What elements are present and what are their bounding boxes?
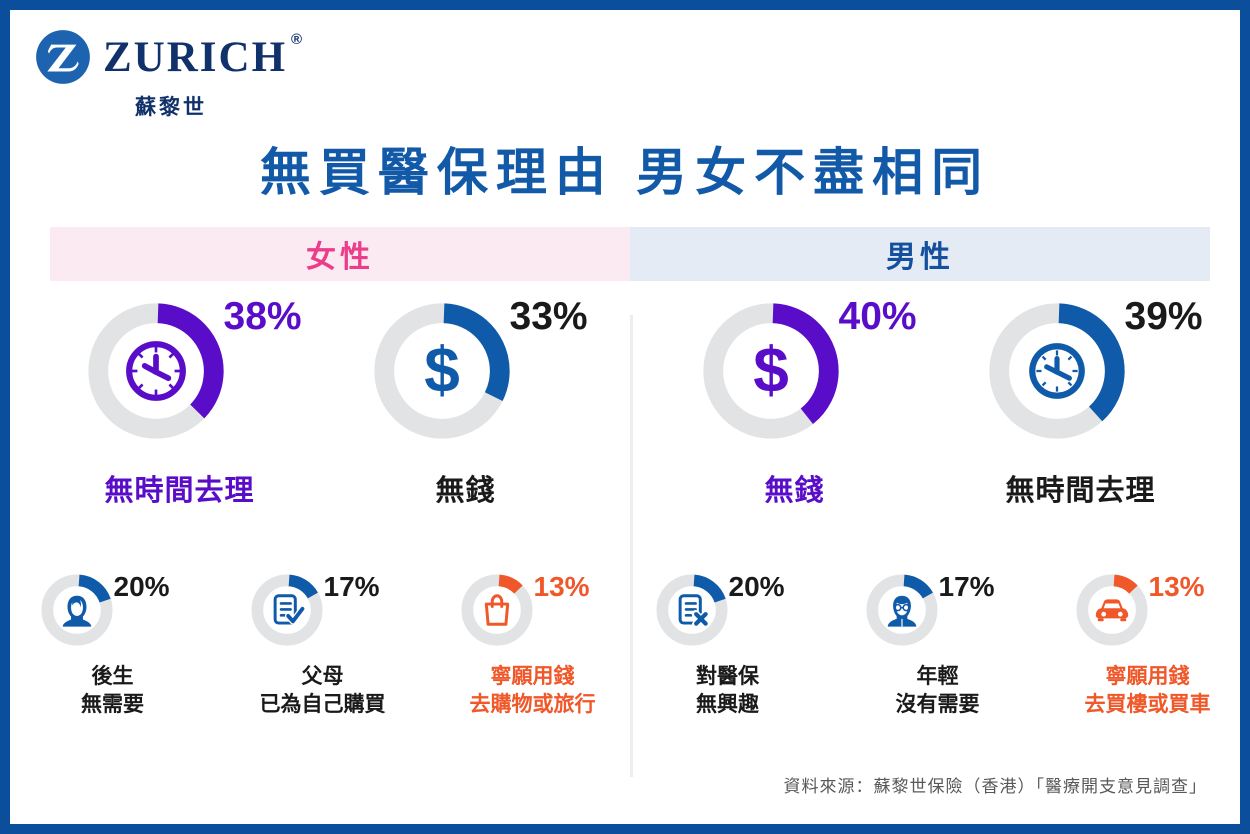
donut-wrap: $ 40%: [695, 295, 895, 445]
stat-label: 父母 已為自己購買: [260, 663, 386, 720]
header-male-label: 男性: [886, 232, 954, 276]
donut-chart: [80, 295, 232, 447]
stat-item-male-no-interest: 20% 對醫保 無興趣: [634, 571, 822, 720]
clock-icon: [1024, 338, 1090, 404]
donut-chart: [981, 295, 1133, 447]
label-line-2: 去買樓或買車: [1085, 691, 1211, 719]
page-title: 無買醫保理由 男女不盡相同: [15, 131, 1235, 205]
label-line-2: 去購物或旅行: [470, 691, 596, 719]
column-female: 38% 無時間去理 $: [15, 295, 630, 720]
donut-chart: [653, 571, 731, 649]
columns-area: 38% 無時間去理 $: [15, 295, 1245, 720]
zurich-z-logo-icon: [35, 29, 91, 85]
male-small-row: 20% 對醫保 無興趣: [630, 571, 1245, 720]
donut-wrap: 13%: [1073, 571, 1223, 649]
donut-wrap: 17%: [863, 571, 1013, 649]
donut-chart: [863, 571, 941, 649]
percent-label: 20%: [114, 573, 170, 601]
brand-chinese-name: 蘇黎世: [135, 91, 207, 121]
stat-item-male-young-no-need: 17% 年輕 沒有需要: [844, 571, 1032, 720]
donut-chart: $: [695, 295, 847, 447]
donut-chart: [248, 571, 326, 649]
registered-mark-icon: ®: [291, 32, 304, 47]
svg-text:$: $: [424, 338, 460, 404]
female-small-row: 20% 後生 無需要: [15, 571, 630, 720]
donut-chart: [458, 571, 536, 649]
brand-wordmark: ZURICH ®: [103, 36, 287, 79]
car-icon: [1093, 591, 1131, 629]
header-male: 男性: [630, 227, 1210, 281]
source-footnote: 資料來源：蘇黎世保險（香港）「醫療開支意見調查」: [784, 772, 1208, 797]
label-line-1: 年輕: [896, 663, 980, 691]
male-big-row: $ 40% 無錢: [630, 295, 1245, 509]
stat-label: 對醫保 無興趣: [696, 663, 759, 720]
stat-label: 後生 無需要: [81, 663, 144, 720]
stat-item-male-no-time: 39% 無時間去理: [956, 295, 1206, 509]
clock-icon: [123, 338, 189, 404]
donut-wrap: 20%: [653, 571, 803, 649]
brand-row: ZURICH ®: [35, 29, 287, 85]
percent-label: 20%: [729, 573, 785, 601]
label-line-1: 寧願用錢: [470, 663, 596, 691]
donut-wrap: 13%: [458, 571, 608, 649]
stat-label: 寧願用錢 去購物或旅行: [470, 663, 596, 720]
stat-item-male-prefer-property-car: 13% 寧願用錢 去買樓或買車: [1054, 571, 1242, 720]
label-line-1: 父母: [260, 663, 386, 691]
label-line-2: 已為自己購買: [260, 691, 386, 719]
percent-label: 38%: [224, 297, 302, 336]
percent-label: 40%: [839, 297, 917, 336]
donut-wrap: 38%: [80, 295, 280, 445]
label-line-2: 無需要: [81, 691, 144, 719]
svg-text:$: $: [753, 338, 789, 404]
donut-wrap: $ 33%: [366, 295, 566, 445]
label-line-1: 後生: [81, 663, 144, 691]
stat-item-female-prefer-shopping: 13% 寧願用錢 去購物或旅行: [439, 571, 627, 720]
gender-header-bars: 女性 男性: [50, 227, 1210, 281]
dollar-icon: $: [738, 338, 804, 404]
stat-label: 寧願用錢 去買樓或買車: [1085, 663, 1211, 720]
brand-block: ZURICH ® 蘇黎世: [35, 29, 287, 121]
percent-label: 39%: [1125, 297, 1203, 336]
header-female-label: 女性: [306, 232, 374, 276]
label-line-2: 無興趣: [696, 691, 759, 719]
percent-label: 33%: [510, 297, 588, 336]
percent-label: 13%: [534, 573, 590, 601]
donut-chart: [1073, 571, 1151, 649]
stat-label: 無時間去理: [104, 467, 254, 509]
donut-wrap: 39%: [981, 295, 1181, 445]
wordmark-text: ZURICH: [103, 34, 287, 81]
shopping-bag-icon: [478, 591, 516, 629]
poster-inner-frame: ZURICH ® 蘇黎世 無買醫保理由 男女不盡相同 女性 男性: [10, 10, 1240, 824]
percent-label: 13%: [1149, 573, 1205, 601]
donut-wrap: 20%: [38, 571, 188, 649]
column-male: $ 40% 無錢: [630, 295, 1245, 720]
stat-label: 年輕 沒有需要: [896, 663, 980, 720]
stat-item-female-no-money: $ 33% 無錢: [341, 295, 591, 509]
female-big-row: 38% 無時間去理 $: [15, 295, 630, 509]
label-line-2: 沒有需要: [896, 691, 980, 719]
document-check-icon: [268, 591, 306, 629]
dollar-icon: $: [409, 338, 475, 404]
stat-label: 無錢: [764, 467, 824, 509]
donut-wrap: 17%: [248, 571, 398, 649]
donut-chart: [38, 571, 116, 649]
man-glasses-icon: [883, 591, 921, 629]
stat-label: 無時間去理: [1005, 467, 1155, 509]
stat-item-female-no-time: 38% 無時間去理: [55, 295, 305, 509]
document-x-icon: [673, 591, 711, 629]
stat-label: 無錢: [435, 467, 495, 509]
stat-item-male-no-money: $ 40% 無錢: [670, 295, 920, 509]
label-line-1: 寧願用錢: [1085, 663, 1211, 691]
header-female: 女性: [50, 227, 630, 281]
infographic-poster: ZURICH ® 蘇黎世 無買醫保理由 男女不盡相同 女性 男性: [0, 0, 1250, 834]
label-line-1: 對醫保: [696, 663, 759, 691]
donut-chart: $: [366, 295, 518, 447]
stat-item-female-young-no-need: 20% 後生 無需要: [19, 571, 207, 720]
percent-label: 17%: [939, 573, 995, 601]
woman-icon: [58, 591, 96, 629]
percent-label: 17%: [324, 573, 380, 601]
stat-item-female-parents-bought: 17% 父母 已為自己購買: [229, 571, 417, 720]
